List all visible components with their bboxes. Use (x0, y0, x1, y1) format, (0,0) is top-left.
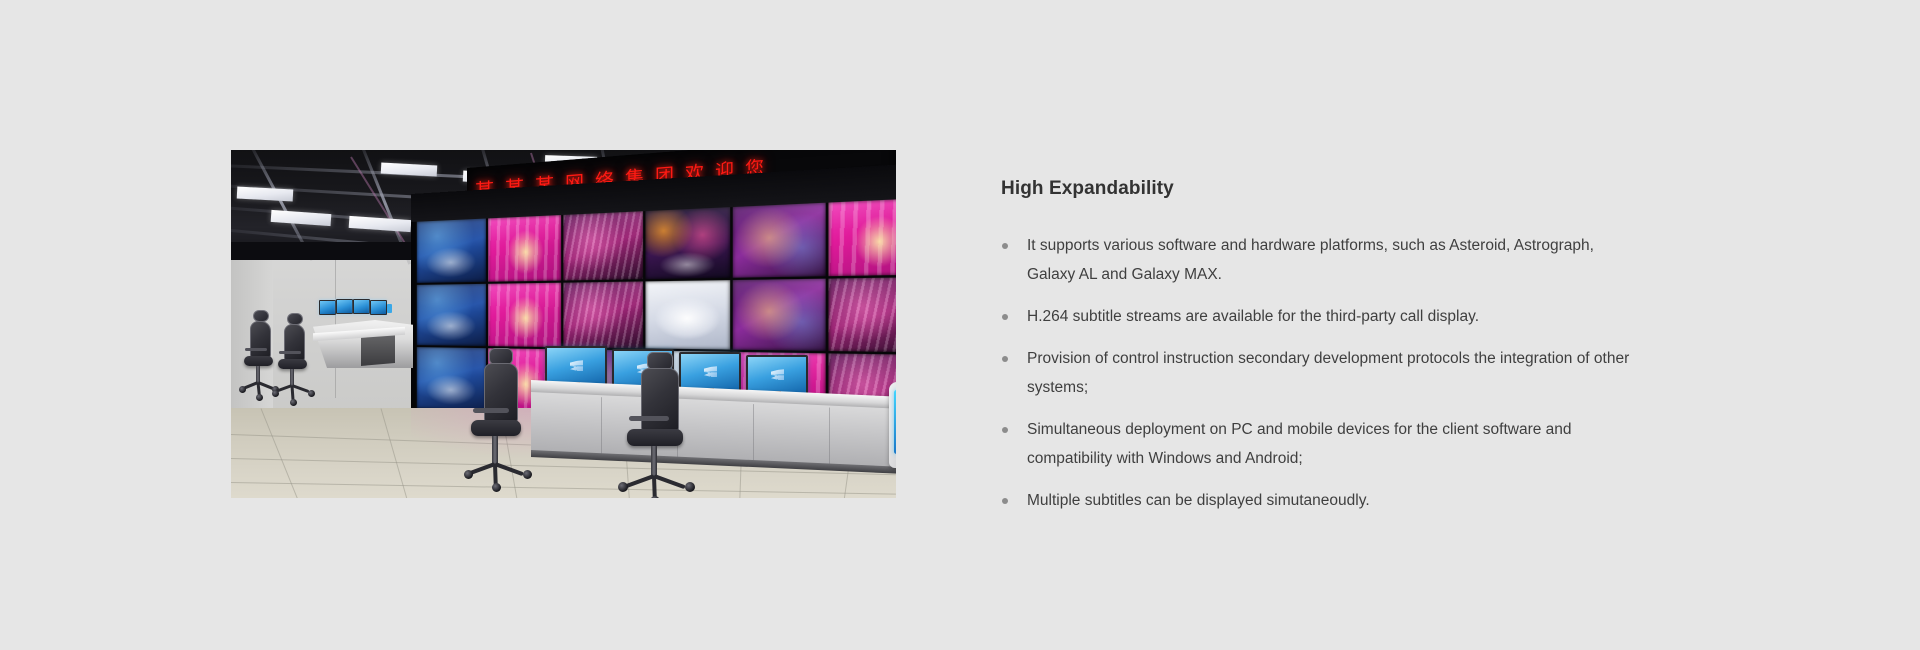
side-desk-monitor (336, 299, 353, 314)
photo-scene: 某某某网络集团欢迎您 (231, 150, 896, 498)
video-wall-cell (563, 211, 642, 280)
side-operator-desk (291, 298, 413, 370)
list-item: Simultaneous deployment on PC and mobile… (1001, 415, 1639, 473)
video-wall-cell (645, 207, 730, 279)
video-wall-cell (645, 280, 730, 350)
side-desk-monitor (370, 300, 387, 315)
side-desk-monitor (353, 299, 370, 314)
video-wall-cell (417, 347, 486, 411)
bullet-icon (1002, 243, 1008, 249)
console-monitor (746, 355, 808, 395)
bullet-icon (1002, 356, 1008, 362)
bullet-icon (1002, 314, 1008, 320)
page-title: High Expandability (1001, 178, 1761, 201)
bullet-icon (1002, 498, 1008, 504)
list-item-text: H.264 subtitle streams are available for… (1027, 308, 1479, 325)
list-item: Provision of control instruction seconda… (1001, 344, 1639, 402)
list-item: H.264 subtitle streams are available for… (1001, 302, 1639, 331)
list-item-text: Simultaneous deployment on PC and mobile… (1027, 421, 1572, 467)
video-wall-cell (733, 203, 825, 278)
feature-content: High Expandability It supports various s… (1001, 178, 1761, 515)
control-room-photo: 某某某网络集团欢迎您 (231, 150, 896, 498)
page-root: 某某某网络集团欢迎您 (0, 0, 1920, 650)
bullet-icon (1002, 427, 1008, 433)
list-item: It supports various software and hardwar… (1001, 231, 1639, 289)
video-wall-cell (563, 281, 642, 349)
video-wall-cell (488, 215, 562, 281)
list-item: Multiple subtitles can be displayed simu… (1001, 486, 1639, 515)
video-wall-cell (488, 282, 562, 347)
side-desk-monitor (319, 300, 336, 315)
video-wall-cell (733, 278, 825, 351)
list-item-text: Provision of control instruction seconda… (1027, 350, 1629, 396)
feature-list: It supports various software and hardwar… (1001, 231, 1761, 515)
console-monitor (545, 346, 607, 386)
video-wall-cell (417, 219, 486, 283)
list-item-text: It supports various software and hardwar… (1027, 237, 1594, 283)
main-operator-console (531, 346, 896, 466)
video-wall-cell (828, 198, 896, 276)
console-monitor (679, 352, 741, 392)
list-item-text: Multiple subtitles can be displayed simu… (1027, 492, 1370, 509)
video-wall-cell (417, 283, 486, 346)
video-wall-cell (828, 277, 896, 353)
